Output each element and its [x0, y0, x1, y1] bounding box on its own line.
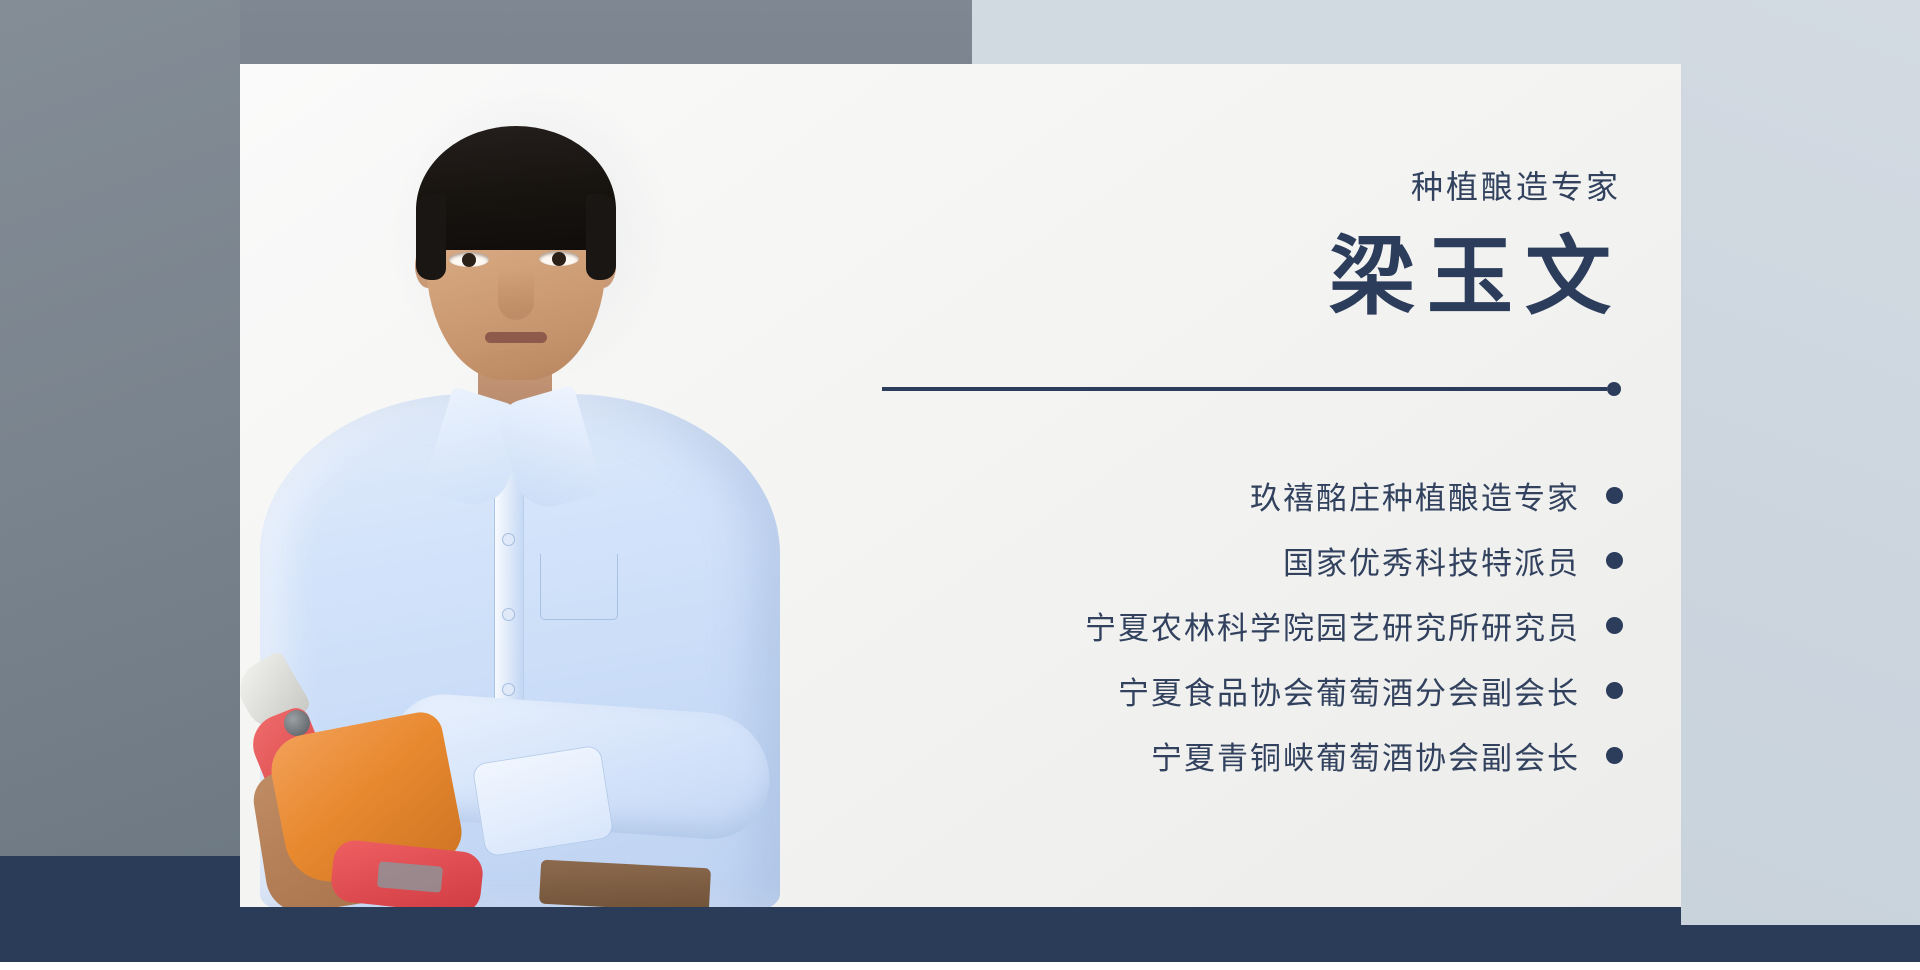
pruning-shears-pivot-bolt [284, 710, 310, 736]
expert-name: 梁玉文 [1329, 206, 1623, 331]
background-lightblue-right-panel [1681, 0, 1920, 925]
credential-label: 国家优秀科技特派员 [1283, 538, 1580, 583]
list-item: 宁夏青铜峡葡萄酒协会副会长 [803, 728, 1623, 782]
portrait-pupil-right [552, 252, 566, 266]
credential-label: 宁夏农林科学院园艺研究所研究员 [1085, 603, 1580, 648]
bullet-dot-icon [1606, 617, 1623, 634]
portrait-hair-side-left [416, 194, 446, 280]
portrait-shirt-button [503, 684, 514, 695]
portrait-shirt-pocket [540, 554, 618, 620]
credential-label: 玖禧酩庄种植酿造专家 [1250, 473, 1580, 518]
background-gray-left-panel [0, 0, 240, 856]
portrait-shirt-cuff [471, 744, 614, 857]
portrait-shirt-button [503, 534, 514, 545]
background-bottom-white-strip [0, 962, 1920, 970]
expert-subtitle: 种植酿造专家 [1411, 162, 1621, 208]
bullet-dot-icon [1606, 487, 1623, 504]
divider-line [882, 387, 1607, 391]
portrait-mouth [485, 332, 547, 343]
portrait-belt [539, 860, 711, 907]
pruning-shears-label [377, 861, 443, 892]
profile-card: 种植酿造专家 梁玉文 玖禧酩庄种植酿造专家 国家优秀科技特派员 宁夏农林科学院园… [240, 64, 1681, 907]
background-gray-mid-band [240, 0, 972, 64]
expert-portrait-photo [240, 64, 800, 907]
credentials-list: 玖禧酩庄种植酿造专家 国家优秀科技特派员 宁夏农林科学院园艺研究所研究员 宁夏食… [803, 468, 1623, 793]
divider-end-dot [1607, 382, 1621, 396]
list-item: 国家优秀科技特派员 [803, 533, 1623, 587]
list-item: 玖禧酩庄种植酿造专家 [803, 468, 1623, 522]
banner-stage: 种植酿造专家 梁玉文 玖禧酩庄种植酿造专家 国家优秀科技特派员 宁夏农林科学院园… [0, 0, 1920, 970]
list-item: 宁夏食品协会葡萄酒分会副会长 [803, 663, 1623, 717]
bullet-dot-icon [1606, 552, 1623, 569]
portrait-pupil-left [462, 253, 476, 267]
credential-label: 宁夏青铜峡葡萄酒协会副会长 [1151, 733, 1580, 778]
bullet-dot-icon [1606, 747, 1623, 764]
portrait-shirt-button [503, 609, 514, 620]
portrait-chin-shade [468, 350, 564, 376]
expert-info-block: 种植酿造专家 梁玉文 玖禧酩庄种植酿造专家 国家优秀科技特派员 宁夏农林科学院园… [800, 64, 1681, 907]
portrait-hair-side-right [586, 194, 616, 280]
portrait-eye-left [449, 252, 489, 267]
portrait-nose [498, 264, 534, 320]
credential-label: 宁夏食品协会葡萄酒分会副会长 [1118, 668, 1580, 713]
portrait-eye-right [539, 251, 579, 266]
divider [882, 382, 1621, 396]
list-item: 宁夏农林科学院园艺研究所研究员 [803, 598, 1623, 652]
bullet-dot-icon [1606, 682, 1623, 699]
